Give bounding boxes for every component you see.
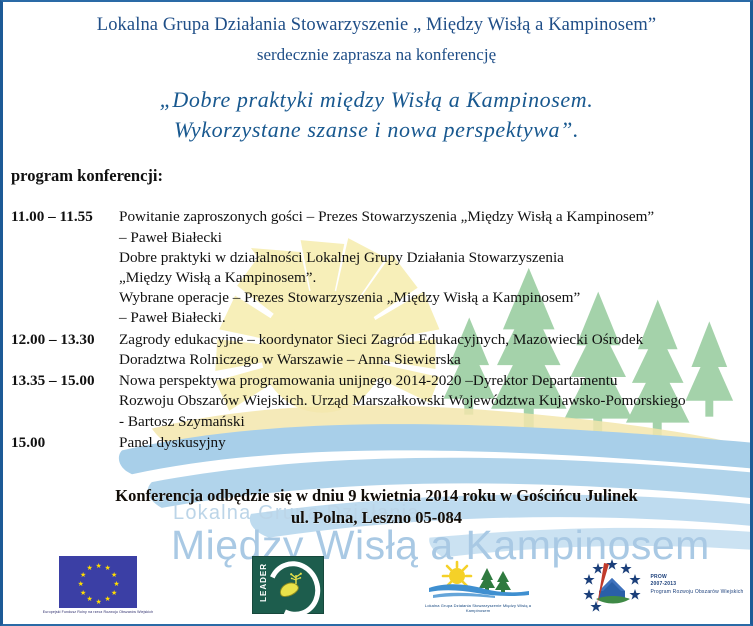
schedule-line: „Między Wisłą a Kampinosem”.: [119, 268, 750, 288]
conference-slogan: „Dobre praktyki między Wisłą a Kampinose…: [3, 85, 750, 144]
program-heading: program konferencji:: [11, 166, 750, 186]
schedule-line: Doradztwa Rolniczego w Warszawie – Anna …: [119, 350, 750, 370]
prow-logo: PROW 2007-2013 Program Rozwoju Obszarów …: [580, 557, 744, 613]
leader-wordmark: LEADER: [259, 563, 268, 602]
prow-cap-line: Wiejskich: [721, 589, 744, 595]
eu-logo-caption: Europejski Fundusz Rolny na rzecz Rozwoj…: [43, 610, 153, 614]
schedule-line: Dobre praktyki w działalności Lokalnej G…: [119, 248, 750, 268]
lgd-kampinos-logo: Lokalna Grupa Działania Stowarzyszenie M…: [418, 558, 538, 613]
schedule-row: 13.35 – 15.00 Nowa perspektywa programow…: [11, 371, 750, 432]
schedule-line: Zagrody edukacyjne – koordynator Sieci Z…: [119, 330, 750, 350]
schedule-description: Zagrody edukacyjne – koordynator Sieci Z…: [119, 330, 750, 370]
prow-logo-slot: PROW 2007-2013 Program Rozwoju Obszarów …: [573, 552, 750, 618]
schedule-line: Nowa perspektywa programowania unijnego …: [119, 371, 750, 391]
water-icon: [429, 584, 529, 598]
poster-content: Lokalna Grupa Działania Stowarzyszenie „…: [3, 15, 750, 529]
conference-poster: Lokalna Grupa Działania Między Wisłą a K…: [0, 0, 753, 626]
leader-logo-slot: LEADER: [193, 552, 383, 618]
schedule-row: 15.00 Panel dyskusyjny: [11, 433, 750, 453]
schedule-time: 11.00 – 11.55: [11, 207, 119, 227]
leader-sprout-icon: [289, 571, 303, 585]
venue-line-2: ul. Polna, Leszno 05-084: [3, 507, 750, 529]
schedule-time: 15.00: [11, 433, 119, 453]
schedule-line: – Paweł Białecki: [119, 228, 750, 248]
schedule-description: Panel dyskusyjny: [119, 433, 750, 453]
schedule-description: Nowa perspektywa programowania unijnego …: [119, 371, 750, 432]
sun-icon: [443, 562, 471, 586]
prow-logo-caption: PROW 2007-2013 Program Rozwoju Obszarów …: [651, 574, 744, 597]
schedule-time: 12.00 – 13.30: [11, 330, 119, 350]
slogan-line-2: Wykorzystane szanse i nowa perspektywa”.: [3, 115, 750, 145]
venue-info: Konferencja odbędzie się w dniu 9 kwietn…: [3, 485, 750, 529]
schedule-line: Powitanie zaproszonych gości – Prezes St…: [119, 207, 750, 227]
lgd-logo-slot: Lokalna Grupa Działania Stowarzyszenie M…: [383, 552, 573, 618]
slogan-line-1: „Dobre praktyki między Wisłą a Kampinose…: [160, 87, 594, 112]
leader-logo: LEADER: [252, 556, 324, 614]
lgd-logo-caption: Lokalna Grupa Działania Stowarzyszenie M…: [418, 603, 538, 613]
eu-logo-slot: ★ ★ ★ ★ ★ ★ ★ ★ ★ ★ ★ ★ Europejski Fundu…: [3, 552, 193, 618]
schedule-line: – Paweł Białecki.: [119, 308, 750, 328]
invitation-line: serdecznie zaprasza na konferencję: [3, 45, 750, 65]
prow-cap-line: PROW: [651, 574, 744, 582]
schedule-list: 11.00 – 11.55 Powitanie zaproszonych goś…: [11, 207, 750, 453]
schedule-line: Wybrane operacje – Prezes Stowarzyszenia…: [119, 288, 750, 308]
schedule-row: 11.00 – 11.55 Powitanie zaproszonych goś…: [11, 207, 750, 328]
schedule-time: 13.35 – 15.00: [11, 371, 119, 391]
schedule-line: Panel dyskusyjny: [119, 433, 750, 453]
lgd-logo-art: [423, 558, 533, 602]
schedule-line: - Bartosz Szymański: [119, 412, 750, 432]
schedule-description: Powitanie zaproszonych gości – Prezes St…: [119, 207, 750, 328]
schedule-row: 12.00 – 13.30 Zagrody edukacyjne – koord…: [11, 330, 750, 370]
organizer-line: Lokalna Grupa Działania Stowarzyszenie „…: [3, 15, 750, 36]
prow-cap-line: 2007-2013: [651, 581, 744, 589]
eu-flag-icon: ★ ★ ★ ★ ★ ★ ★ ★ ★ ★ ★ ★: [59, 556, 137, 608]
eu-flag-logo: ★ ★ ★ ★ ★ ★ ★ ★ ★ ★ ★ ★ Europejski Fundu…: [43, 556, 153, 614]
prow-cap-line: Obszarów: [695, 589, 719, 595]
logo-strip: ★ ★ ★ ★ ★ ★ ★ ★ ★ ★ ★ ★ Europejski Fundu…: [3, 552, 750, 618]
venue-line-1: Konferencja odbędzie się w dniu 9 kwietn…: [115, 486, 637, 505]
prow-cap-line: Program Rozwoju: [651, 589, 694, 595]
prow-emblem-icon: [580, 557, 644, 613]
schedule-line: Rozwoju Obszarów Wiejskich. Urząd Marsza…: [119, 391, 750, 411]
